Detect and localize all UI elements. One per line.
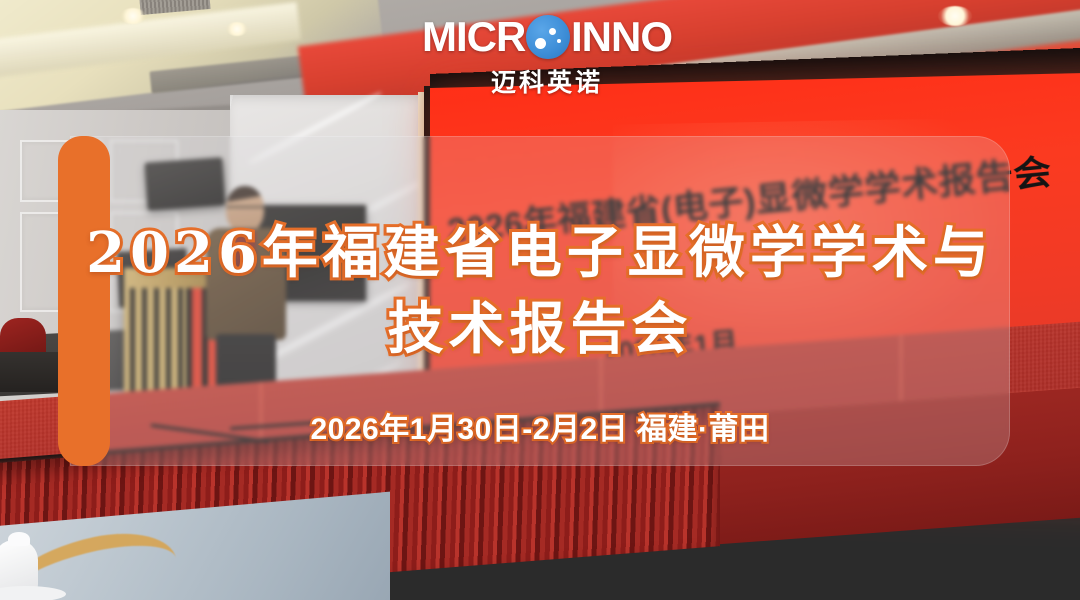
molecule-dot-small (557, 39, 561, 43)
downlight-icon (226, 22, 248, 36)
poster-title: 2026年福建省电子显微学学术与 技术报告会 (70, 215, 1010, 367)
molecule-dot-medium (549, 28, 556, 35)
poster-canvas: 2026年福建省(电子)显微学学术报告会 2026年1月 (0, 0, 1080, 600)
title-line-2: 技术报告会 (70, 291, 1010, 367)
date-location-line: 2026年1月30日-2月2日 福建·莆田 (70, 404, 1010, 448)
downlight-icon (120, 8, 146, 24)
brand-logo: MICR INNO 迈科英诺 (422, 14, 672, 92)
molecule-dot-large (535, 38, 546, 49)
saucer (0, 586, 66, 600)
downlight-icon (938, 6, 972, 26)
title-line-1: 2026年福建省电子显微学学术与 (70, 215, 1010, 291)
teapot-lid (8, 532, 30, 546)
logo-chinese-name: 迈科英诺 (422, 63, 672, 99)
logo-wordmark: MICR INNO (422, 14, 672, 60)
logo-word-right: INNO (571, 14, 672, 60)
blue-circle-molecule-icon (526, 15, 570, 59)
logo-word-left: MICR (422, 14, 525, 60)
